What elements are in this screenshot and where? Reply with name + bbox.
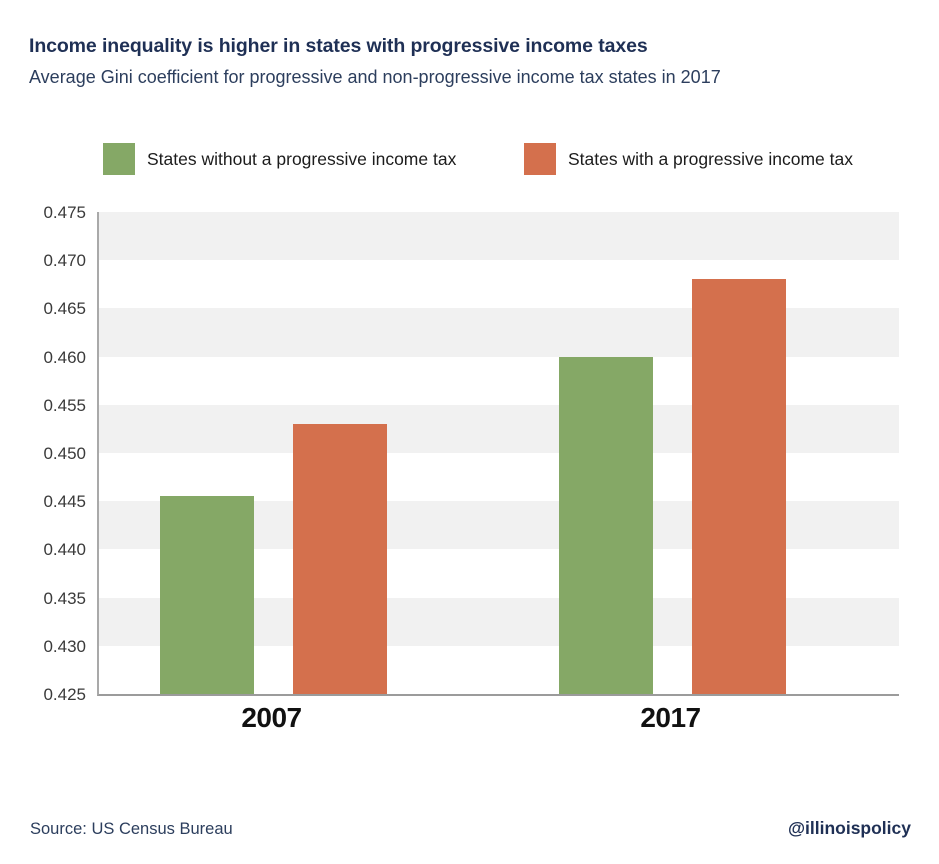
plot-area (97, 212, 899, 696)
y-axis-tick-label: 0.475 (6, 204, 86, 221)
y-axis-tick-label: 0.425 (6, 686, 86, 703)
y-axis-tick-label: 0.440 (6, 541, 86, 558)
x-axis-tick-label-2017: 2017 (591, 702, 751, 734)
y-axis-tick-label: 0.435 (6, 590, 86, 607)
y-axis: 0.4250.4300.4350.4400.4450.4500.4550.460… (0, 0, 86, 864)
y-axis-tick-label: 0.460 (6, 349, 86, 366)
y-axis-tick-label: 0.430 (6, 638, 86, 655)
bar-2007-series-1[interactable] (293, 424, 387, 694)
plot-band (99, 212, 899, 260)
y-axis-tick-label: 0.455 (6, 397, 86, 414)
y-axis-tick-label: 0.445 (6, 493, 86, 510)
x-axis-tick-label-2007: 2007 (192, 702, 352, 734)
y-axis-tick-label: 0.465 (6, 300, 86, 317)
y-axis-tick-label: 0.470 (6, 252, 86, 269)
bar-2017-series-0[interactable] (559, 357, 653, 694)
chart-plot-wrapper: 0.4250.4300.4350.4400.4450.4500.4550.460… (0, 0, 939, 864)
source-note: Source: US Census Bureau (30, 820, 233, 839)
bar-2007-series-0[interactable] (160, 496, 254, 694)
y-axis-tick-label: 0.450 (6, 445, 86, 462)
brand-handle: @illinoispolicy (788, 818, 911, 839)
bar-2017-series-1[interactable] (692, 279, 786, 694)
